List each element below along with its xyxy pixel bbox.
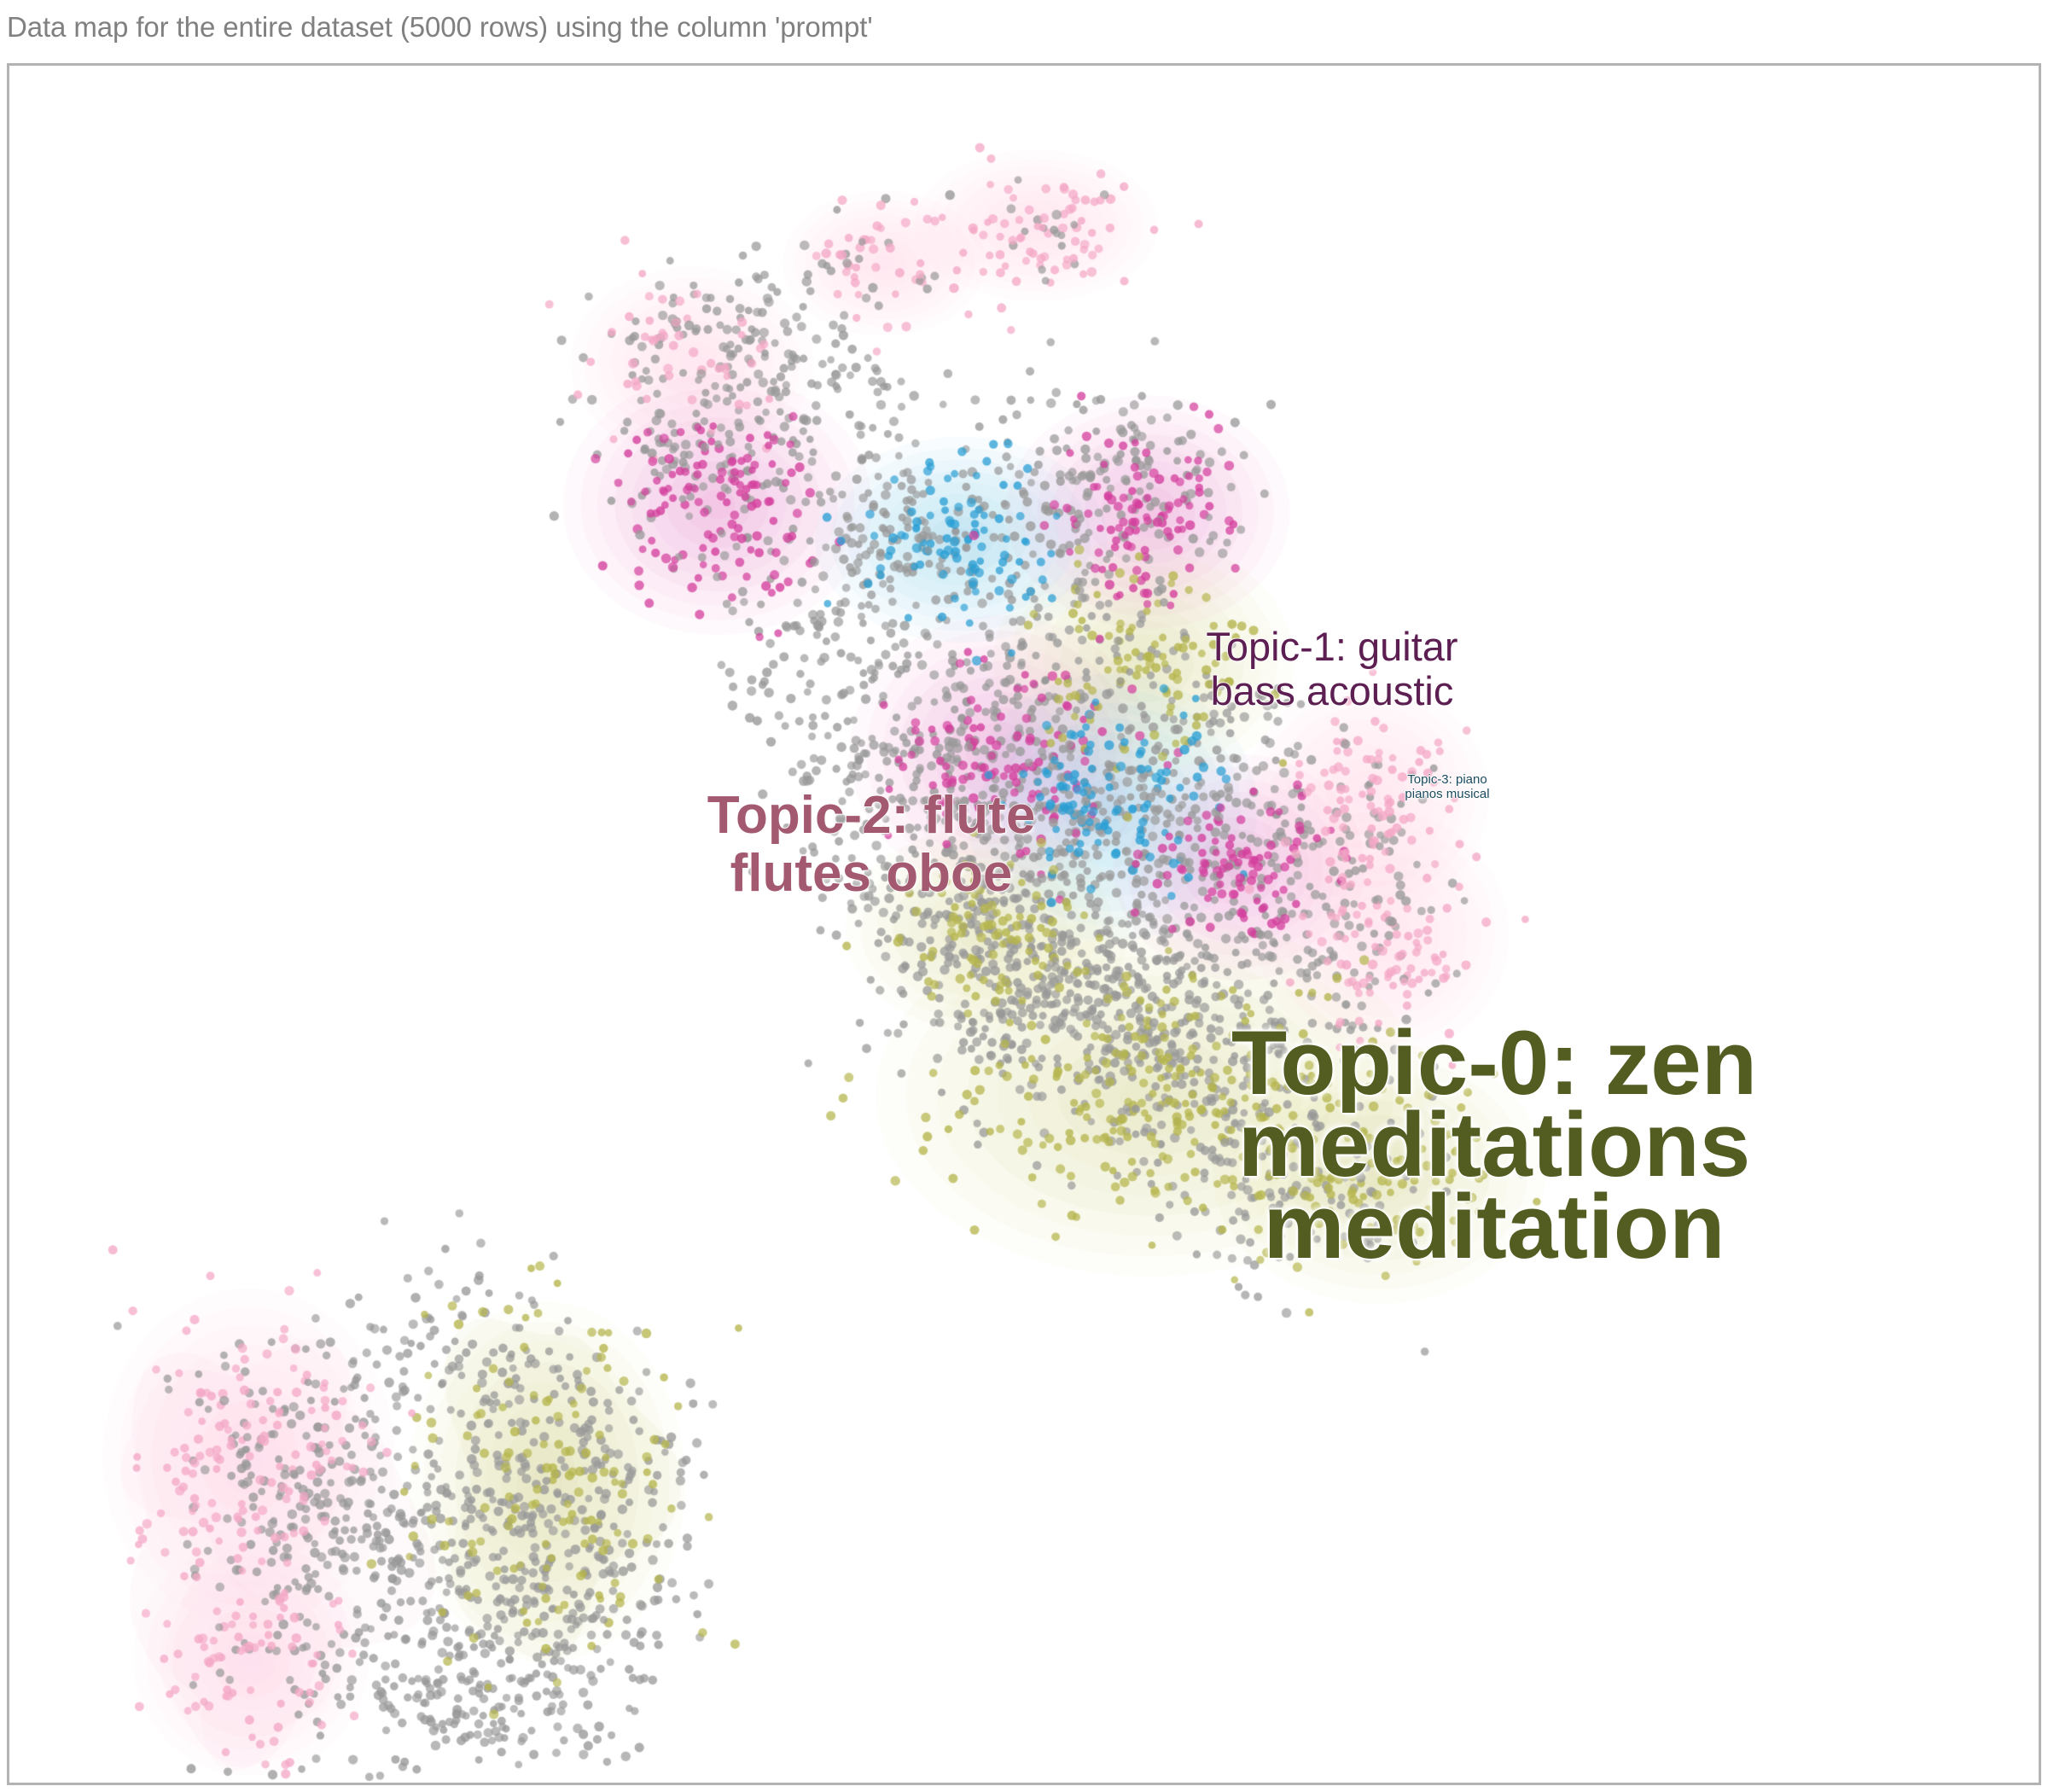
page-title: Data map for the entire dataset (5000 ro…	[7, 10, 873, 44]
scatter-plot-frame[interactable]: Topic-0: zen meditations meditation Topi…	[7, 63, 2041, 1785]
scatter-plot-canvas[interactable]	[9, 66, 2039, 1783]
data-map-visualization: Data map for the entire dataset (5000 ro…	[0, 0, 2048, 1792]
